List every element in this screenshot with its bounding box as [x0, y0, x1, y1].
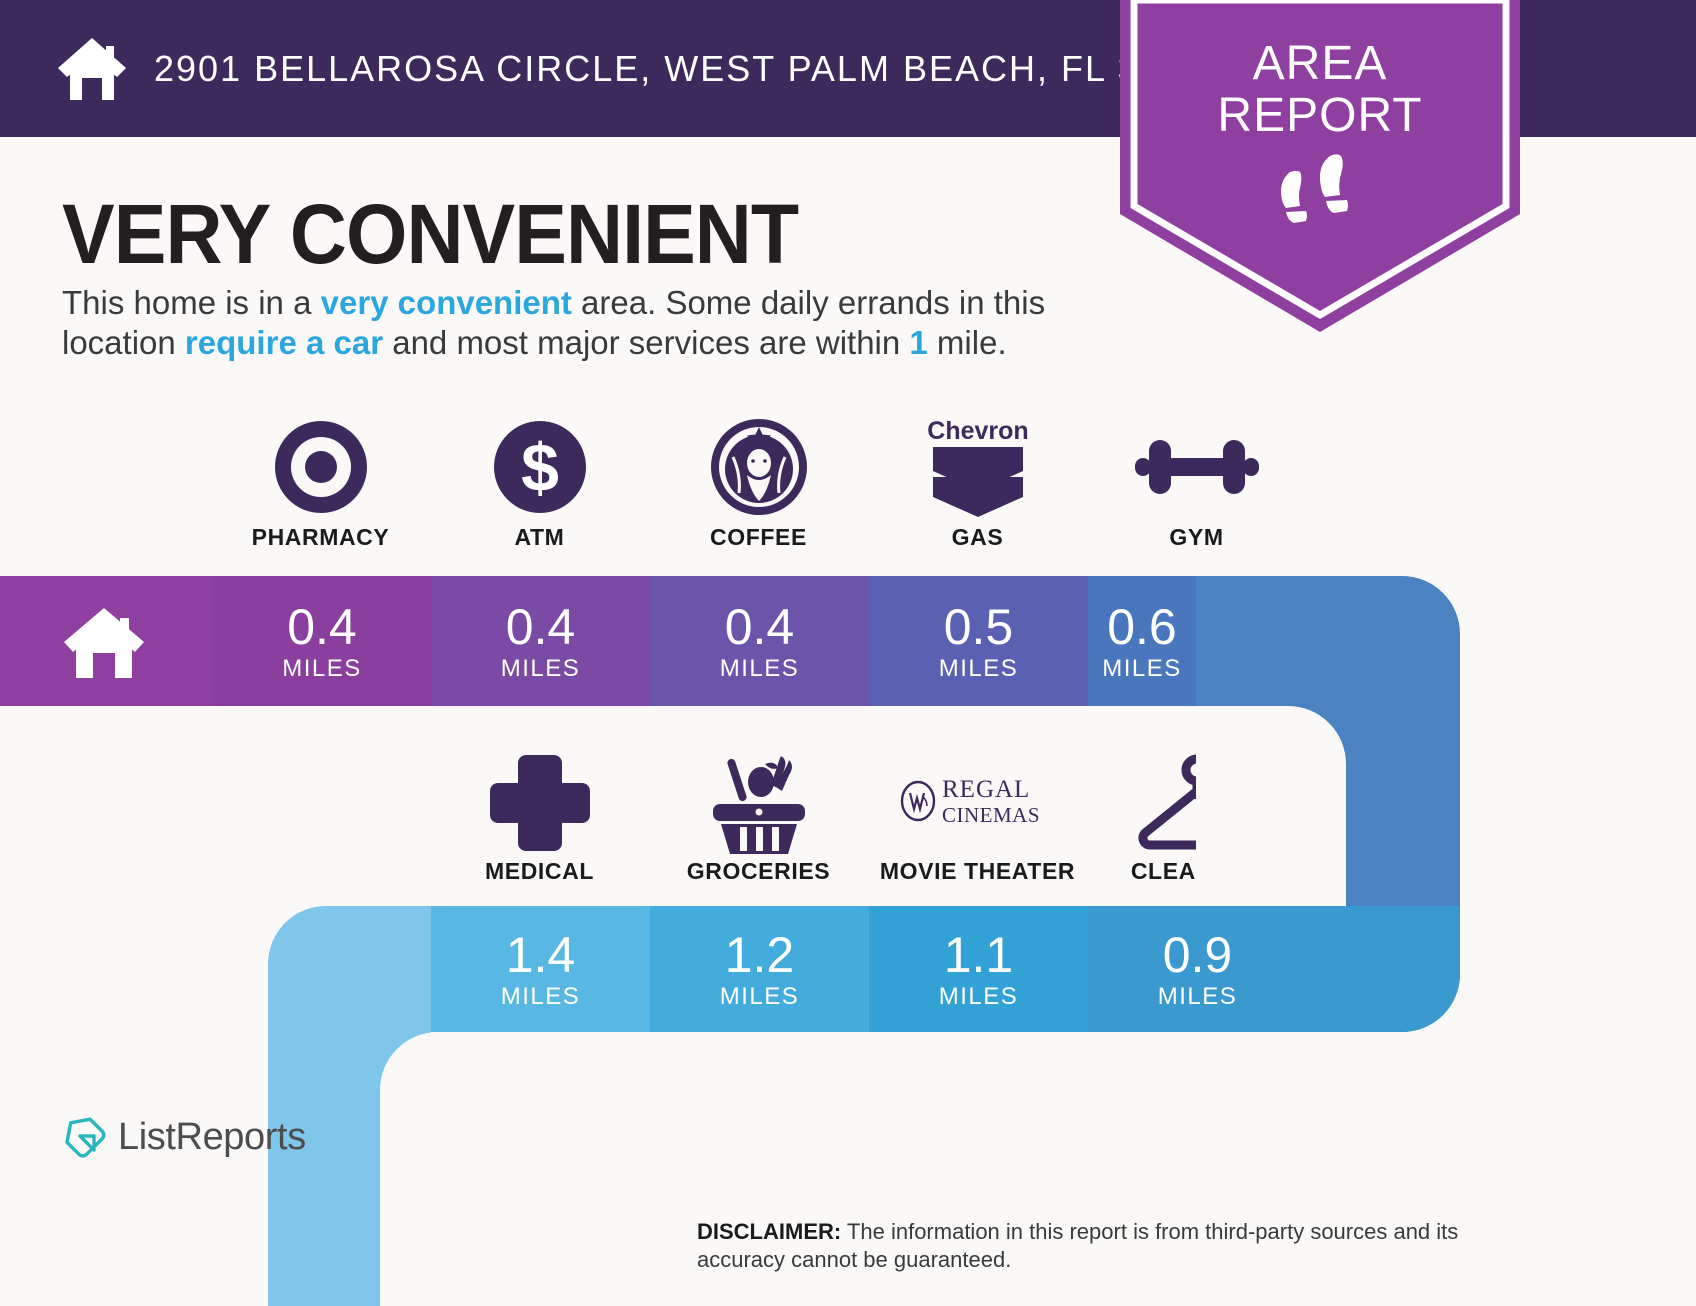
distance-value-coffee: 0.4 — [650, 602, 869, 652]
snake-row2-right-cap — [1268, 906, 1460, 1032]
area-report-page: 2901 BELLAROSA CIRCLE, WEST PALM BEACH, … — [0, 0, 1696, 1306]
listreports-logo-text: ListReports — [118, 1116, 306, 1159]
distance-unit-atm: MILES — [431, 656, 650, 682]
lede-part-3: and most major services are within — [383, 324, 909, 361]
snake-cell-coffee: 0.4 MILES — [650, 576, 869, 706]
home-icon — [62, 606, 146, 680]
distance-unit-medical: MILES — [431, 984, 650, 1010]
lede-highlight-car: require a car — [185, 324, 383, 361]
snake-left-connector-notch — [380, 1032, 500, 1306]
lede-highlight-miles: 1 — [909, 324, 927, 361]
snake-cell-medical: 1.4 MILES — [431, 906, 650, 1032]
distance-unit-coffee: MILES — [650, 656, 869, 682]
summary-paragraph: This home is in a very convenient area. … — [62, 283, 1112, 363]
amenity-coffee-label: COFFEE — [649, 524, 868, 551]
footprints-icon — [1270, 152, 1370, 232]
target-bullseye-icon — [273, 419, 369, 520]
page-title: VERY CONVENIENT — [62, 186, 798, 283]
snake-cell-cleaners: 0.9 MILES — [1088, 906, 1268, 1032]
distance-value-atm: 0.4 — [431, 602, 650, 652]
distance-value-gym: 0.6 — [1088, 602, 1196, 652]
snake-cell-gym: 0.6 MILES — [1088, 576, 1196, 706]
disclaimer: DISCLAIMER: The information in this repo… — [697, 1218, 1507, 1274]
distance-value-pharmacy: 0.4 — [213, 602, 431, 652]
snake-cell-groceries: 1.2 MILES — [650, 906, 869, 1032]
snake-cell-movie-theater: 1.1 MILES — [869, 906, 1088, 1032]
snake-cell-gas: 0.5 MILES — [869, 576, 1088, 706]
badge-title: AREA REPORT — [1120, 38, 1520, 142]
disclaimer-label: DISCLAIMER: — [697, 1219, 841, 1244]
property-address: 2901 BELLAROSA CIRCLE, WEST PALM BEACH, … — [154, 48, 1225, 90]
chevron-logo-icon: Chevron — [925, 415, 1031, 524]
badge-title-line1: AREA — [1120, 38, 1520, 90]
dollar-coin-icon: $ — [492, 419, 588, 520]
dumbbell-icon — [1135, 430, 1259, 509]
starbucks-siren-icon — [709, 417, 809, 522]
amenity-coffee: COFFEE — [649, 418, 868, 551]
snake-cell-pharmacy: 0.4 MILES — [213, 576, 431, 706]
distance-value-groceries: 1.2 — [650, 930, 869, 980]
distance-snake-chart: 0.4 MILES 0.4 MILES 0.4 MILES 0.5 MILES … — [0, 576, 1696, 1306]
amenity-gas-label: GAS — [868, 524, 1087, 551]
distance-unit-gym: MILES — [1088, 656, 1196, 682]
lede-highlight-convenience: very convenient — [321, 284, 572, 321]
distance-unit-movie-theater: MILES — [869, 984, 1088, 1010]
svg-text:$: $ — [521, 430, 559, 506]
distance-value-movie-theater: 1.1 — [869, 930, 1088, 980]
snake-home-cell — [0, 576, 213, 706]
lede-part-1: This home is in a — [62, 284, 321, 321]
svg-text:Chevron: Chevron — [927, 417, 1028, 445]
amenity-pharmacy-label: PHARMACY — [211, 524, 430, 551]
amenity-gas: Chevron GAS — [868, 418, 1087, 551]
area-report-badge: AREA REPORT — [1120, 0, 1520, 332]
amenity-pharmacy: PHARMACY — [211, 418, 430, 551]
amenity-gym-label: GYM — [1087, 524, 1306, 551]
distance-value-gas: 0.5 — [869, 602, 1088, 652]
home-icon — [56, 36, 128, 102]
distance-unit-pharmacy: MILES — [213, 656, 431, 682]
snake-cell-atm: 0.4 MILES — [431, 576, 650, 706]
listreports-house-tag-icon — [60, 1112, 106, 1163]
listreports-logo: ListReports — [60, 1112, 306, 1163]
lede-part-4: mile. — [928, 324, 1007, 361]
distance-value-medical: 1.4 — [431, 930, 650, 980]
distance-unit-gas: MILES — [869, 656, 1088, 682]
badge-title-line2: REPORT — [1120, 90, 1520, 142]
distance-unit-groceries: MILES — [650, 984, 869, 1010]
amenity-icon-row-top: PHARMACY $ ATM — [0, 418, 1696, 568]
amenity-atm-label: ATM — [430, 524, 649, 551]
amenity-gym: GYM — [1087, 418, 1306, 551]
amenity-atm: $ ATM — [430, 418, 649, 551]
